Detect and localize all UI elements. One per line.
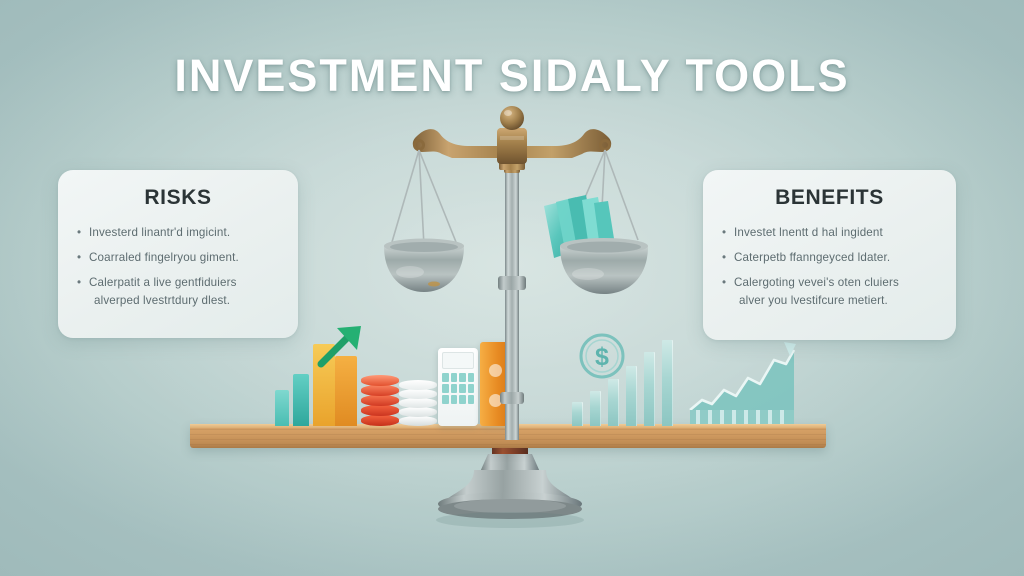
- bullet-text: Caterpetb ffanngeyced ldater.: [734, 251, 890, 264]
- bullet-dot-icon: •: [77, 249, 81, 267]
- bullet-text-continued: alver you lvestifcure metiert.: [734, 292, 938, 310]
- scale-left-pan: [384, 150, 464, 292]
- scale-right-pan: [544, 150, 648, 294]
- scale-finial: [500, 106, 524, 130]
- list-item: • Investet lnentt d hal ingident: [721, 224, 938, 242]
- page-title: INVESTMENT SIDALY TOOLS: [0, 50, 1024, 102]
- card-risks-heading: RISKS: [76, 186, 280, 210]
- bullet-dot-icon: •: [722, 224, 726, 242]
- scale-post: [498, 128, 526, 440]
- bullet-text: Investet lnentt d hal ingident: [734, 226, 883, 239]
- card-benefits-bullet-list: • Investet lnentt d hal ingident • Cater…: [721, 224, 938, 310]
- bullet-text: Investerd linantr'd imgicint.: [89, 226, 230, 239]
- list-item: • Investerd linantr'd imgicint.: [76, 224, 280, 242]
- bullet-dot-icon: •: [77, 224, 81, 242]
- scale-beam: [413, 106, 611, 164]
- card-risks-bullet-list: • Investerd linantr'd imgicint. • Coarra…: [76, 224, 280, 310]
- list-item: • Calergoting vevei's oten cluiers alver…: [721, 274, 938, 310]
- bullet-text: Calergoting vevei's oten cluiers: [734, 276, 899, 289]
- bullet-dot-icon: •: [77, 274, 81, 292]
- card-benefits-heading: BENEFITS: [721, 186, 938, 210]
- bullet-text: Coarraled fingelryou giment.: [89, 251, 239, 264]
- illustration-canvas: INVESTMENT SIDALY TOOLS: [0, 0, 1024, 576]
- list-item: • Coarraled fingelryou giment.: [76, 249, 280, 267]
- bullet-dot-icon: •: [722, 249, 726, 267]
- card-risks: RISKS • Investerd linantr'd imgicint. • …: [58, 170, 298, 338]
- bullet-dot-icon: •: [722, 274, 726, 292]
- bullet-text-continued: alverped lvestrtdury dlest.: [89, 292, 280, 310]
- card-benefits: BENEFITS • Investet lnentt d hal ingiden…: [703, 170, 956, 340]
- list-item: • Calerpatit a live gentfiduiers alverpe…: [76, 274, 280, 310]
- list-item: • Caterpetb ffanngeyced ldater.: [721, 249, 938, 267]
- bullet-text: Calerpatit a live gentfiduiers: [89, 276, 237, 289]
